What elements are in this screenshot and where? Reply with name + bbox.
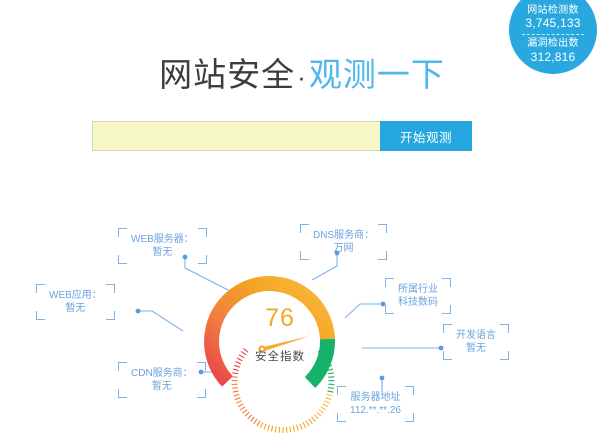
chip-dev-language-line1: 开发语言: [456, 329, 496, 342]
page-title: 网站安全·观测一下: [0, 48, 604, 96]
sites-stat-value: 3,745,133: [509, 17, 597, 31]
chip-web-server[interactable]: WEB服务器： 暂无: [118, 228, 207, 264]
chip-industry-line2: 科技数码: [398, 296, 438, 309]
page-title-separator: ·: [297, 62, 307, 92]
chip-server-address-line2: 112.**.**.26: [350, 404, 401, 417]
gauge-score: 76: [250, 304, 310, 333]
chip-web-server-line1: WEB服务器：: [131, 233, 194, 246]
chip-server-address-line1: 服务器地址: [350, 391, 401, 404]
chip-server-address[interactable]: 服务器地址 112.**.**.26: [337, 386, 414, 422]
sites-stat-label: 网站检测数: [509, 5, 597, 17]
sites-stat: 网站检测数 3,745,133: [509, 5, 597, 31]
page-title-part1: 网站安全: [159, 56, 295, 93]
chip-dns-provider-line1: DNS服务商：: [313, 229, 374, 242]
chip-dev-language[interactable]: 开发语言 暂无: [443, 324, 509, 360]
search-bar: 开始观测: [92, 121, 472, 151]
search-input[interactable]: [92, 121, 380, 151]
chip-cdn-provider-line2: 暂无: [131, 380, 193, 393]
chip-web-app-line2: 暂无: [49, 302, 102, 315]
chip-cdn-provider[interactable]: CDN服务商： 暂无: [118, 362, 206, 398]
scan-result-diagram: 76 安全指数 WEB服务器： 暂无 DNS服务商： 万网 WEB应用： 暂无: [0, 196, 604, 434]
chip-dns-provider[interactable]: DNS服务商： 万网: [300, 224, 387, 260]
gauge-caption: 安全指数: [230, 348, 330, 364]
chip-dev-language-line2: 暂无: [456, 342, 496, 355]
chip-web-app[interactable]: WEB应用： 暂无: [36, 284, 115, 320]
start-scan-button[interactable]: 开始观测: [380, 121, 472, 151]
chip-industry-line1: 所属行业: [398, 283, 438, 296]
page-root: 网站检测数 3,745,133 漏洞检出数 312,816 网站安全·观测一下 …: [0, 0, 604, 434]
chip-cdn-provider-line1: CDN服务商：: [131, 367, 193, 380]
chip-dns-provider-line2: 万网: [313, 242, 374, 255]
chip-industry[interactable]: 所属行业 科技数码: [385, 278, 451, 314]
chip-web-server-line2: 暂无: [131, 246, 194, 259]
stats-divider: [522, 34, 584, 35]
chip-web-app-line1: WEB应用：: [49, 289, 102, 302]
gauge-arc: [212, 284, 328, 383]
page-title-part2: 观测一下: [309, 56, 445, 93]
